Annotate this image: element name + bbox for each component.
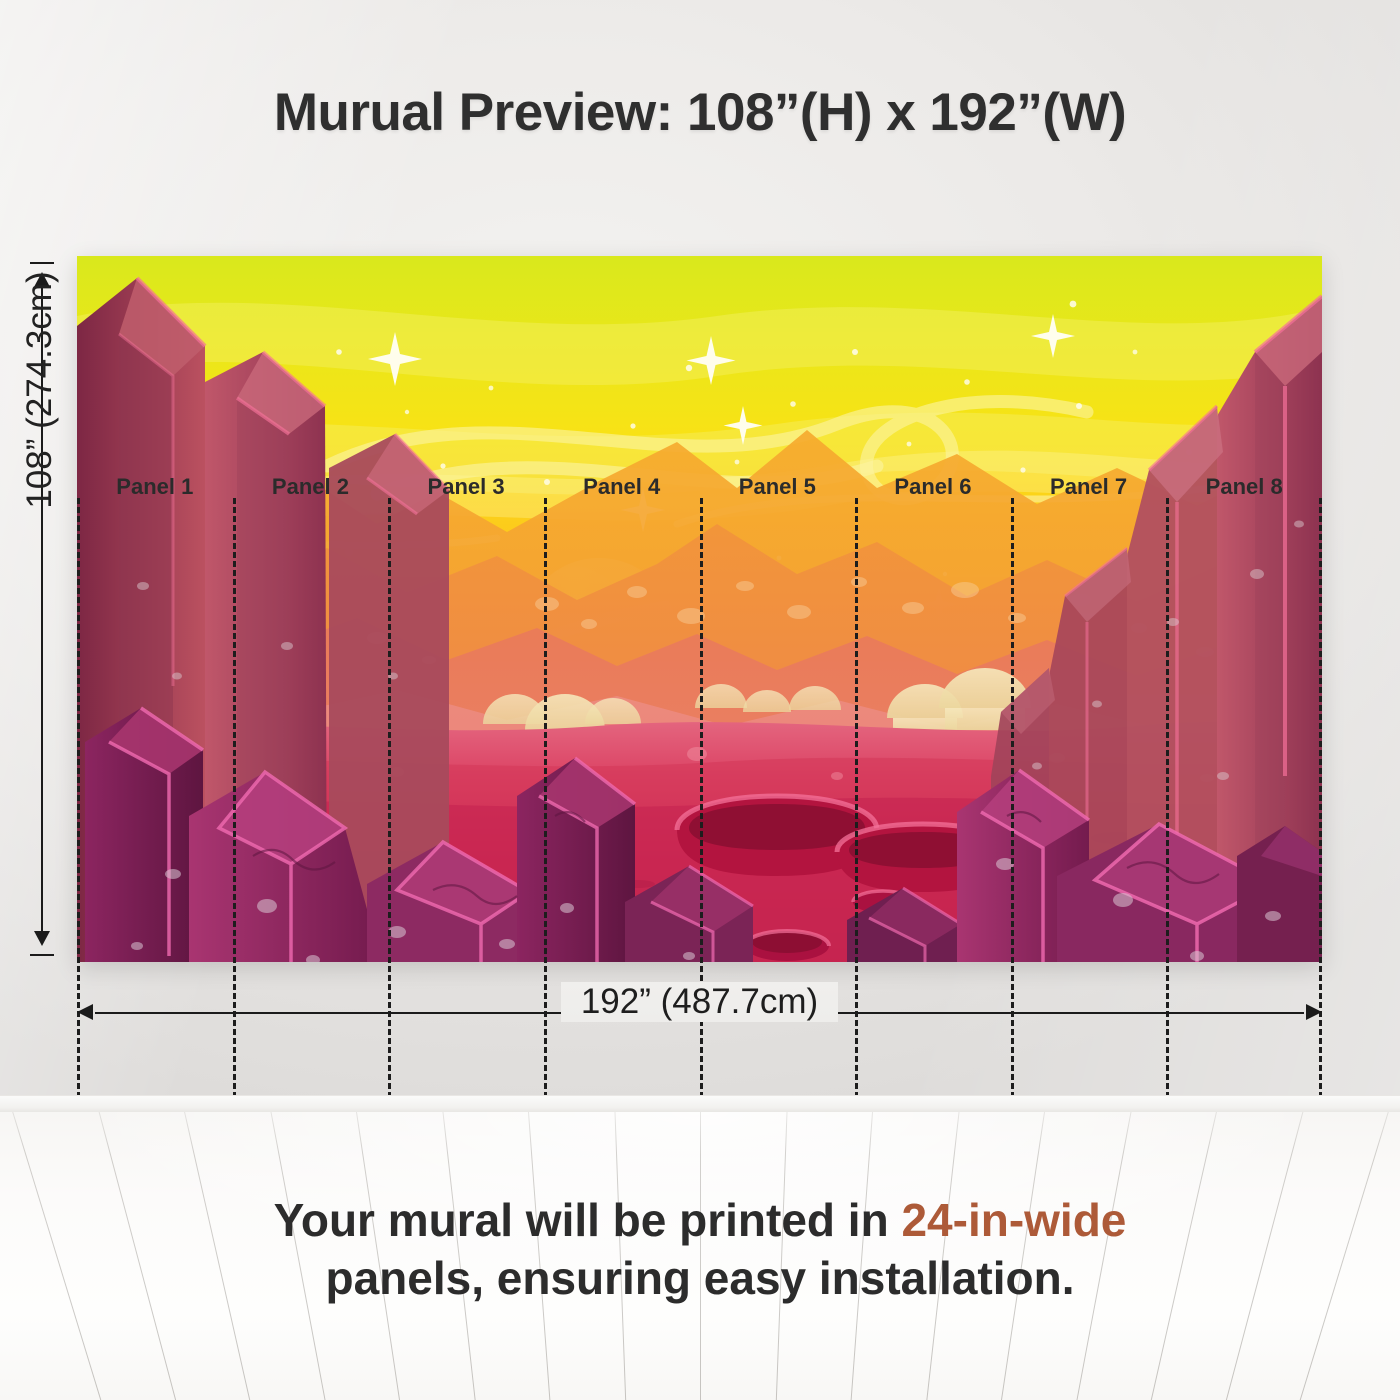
width-dimension-arrow: 192” (487.7cm) <box>77 1010 1322 1016</box>
caption-accent: 24-in-wide <box>901 1194 1126 1246</box>
caption-text: Your mural will be printed in 24-in-wide… <box>0 1192 1400 1308</box>
height-arrowhead-down <box>34 931 50 946</box>
width-dimension-label: 192” (487.7cm) <box>77 982 1322 1022</box>
mural-preview-container: Panel 1Panel 2Panel 3Panel 4Panel 5Panel… <box>77 256 1322 962</box>
caption-line-2: panels, ensuring easy installation. <box>0 1250 1400 1308</box>
panel-label-7: Panel 7 <box>1050 474 1127 500</box>
panel-label-5: Panel 5 <box>739 474 816 500</box>
panel-label-2: Panel 2 <box>272 474 349 500</box>
height-tick-bottom <box>30 954 54 956</box>
panel-label-3: Panel 3 <box>428 474 505 500</box>
panel-label-6: Panel 6 <box>894 474 971 500</box>
height-dimension-label: 108” (274.3cm) <box>20 90 60 690</box>
caption-line1-pre: Your mural will be printed in <box>274 1194 902 1246</box>
width-dimension-text: 192” (487.7cm) <box>561 982 838 1022</box>
panel-label-1: Panel 1 <box>116 474 193 500</box>
panel-label-8: Panel 8 <box>1206 474 1283 500</box>
page-title: Murual Preview: 108”(H) x 192”(W) <box>0 82 1400 143</box>
panel-label-4: Panel 4 <box>583 474 660 500</box>
caption-line-1: Your mural will be printed in 24-in-wide <box>0 1192 1400 1250</box>
